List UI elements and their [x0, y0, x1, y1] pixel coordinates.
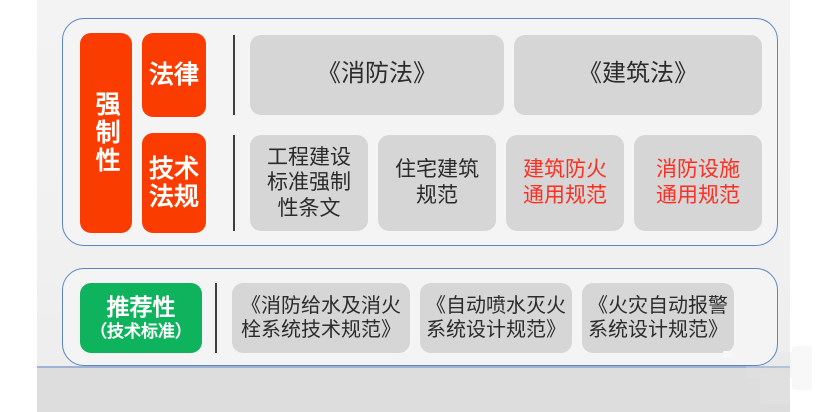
tile-residential-building-code[interactable]: 住宅建筑 规范	[378, 135, 496, 231]
recommended-category-sublabel: （技术标准）	[90, 322, 192, 341]
tile-residential-building-code-line2: 规范	[416, 183, 458, 207]
tile-building-fire-prevention-code-label: 建筑防火 通用规范	[523, 157, 607, 208]
tile-fire-facility-general-code-line1: 消防设施	[656, 157, 740, 181]
mandatory-card: 强制性 法律 技术 法规 《消防法》 《建筑法》 工程建设 标准强制 性条文	[62, 18, 778, 246]
tile-building-fire-prevention-code-line1: 建筑防火	[523, 157, 607, 181]
tile-sprinkler-system-code-label: 《自动喷水灭火 系统设计规范》	[426, 294, 566, 343]
mandatory-category-chip[interactable]: 强制性	[80, 33, 132, 233]
slide-canvas: 强制性 法律 技术 法规 《消防法》 《建筑法》 工程建设 标准强制 性条文	[0, 0, 828, 412]
tile-water-supply-hydrant-code[interactable]: 《消防给水及消火 栓系统技术规范》	[232, 283, 410, 353]
tile-sprinkler-system-code[interactable]: 《自动喷水灭火 系统设计规范》	[420, 283, 572, 353]
recommended-row-separator	[215, 283, 217, 353]
tile-fire-alarm-system-code-label: 《火灾自动报警 系统设计规范》	[588, 294, 728, 343]
technical-regulation-row-separator	[233, 135, 235, 231]
tile-fire-facility-general-code-line2: 通用规范	[656, 183, 740, 207]
tile-sprinkler-system-code-line1: 《自动喷水灭火	[426, 295, 566, 317]
tile-sprinkler-system-code-line2: 系统设计规范》	[426, 319, 566, 341]
footer-strip	[37, 368, 790, 412]
tile-water-supply-hydrant-code-line2: 栓系统技术规范》	[241, 319, 401, 341]
render-artifact-speck	[723, 351, 732, 358]
tile-construction-law[interactable]: 《建筑法》	[514, 35, 762, 115]
technical-regulation-row-chip[interactable]: 技术 法规	[142, 133, 206, 233]
mandatory-category-label: 强制性	[93, 91, 119, 175]
recommended-card: 推荐性 （技术标准） 《消防给水及消火 栓系统技术规范》 《自动喷水灭火 系统设…	[62, 268, 778, 366]
tile-fire-alarm-system-code[interactable]: 《火灾自动报警 系统设计规范》	[582, 283, 734, 353]
watermark-shape-c	[792, 346, 812, 390]
tile-fire-facility-general-code-label: 消防设施 通用规范	[656, 157, 740, 208]
tile-fire-alarm-system-code-line2: 系统设计规范》	[588, 319, 728, 341]
technical-regulation-row-label-line2: 法规	[149, 183, 199, 211]
law-row-label: 法律	[149, 61, 199, 89]
tile-mandatory-provisions-label: 工程建设 标准强制 性条文	[267, 145, 351, 222]
tile-construction-law-label: 《建筑法》	[578, 60, 698, 89]
recommended-category-chip[interactable]: 推荐性 （技术标准）	[80, 283, 202, 353]
tile-fire-facility-general-code[interactable]: 消防设施 通用规范	[634, 135, 762, 231]
tile-fire-alarm-system-code-line1: 《火灾自动报警	[588, 295, 728, 317]
tile-water-supply-hydrant-code-line1: 《消防给水及消火	[241, 295, 401, 317]
tile-fire-protection-law[interactable]: 《消防法》	[250, 35, 504, 115]
tile-mandatory-provisions-line1: 工程建设	[267, 145, 351, 169]
tile-building-fire-prevention-code-line2: 通用规范	[523, 183, 607, 207]
tile-residential-building-code-line1: 住宅建筑	[395, 157, 479, 181]
recommended-category-label: 推荐性	[107, 295, 176, 321]
tile-fire-protection-law-label: 《消防法》	[317, 60, 437, 89]
technical-regulation-row-label: 技术 法规	[149, 155, 199, 211]
technical-regulation-row-label-line1: 技术	[149, 155, 199, 183]
tile-residential-building-code-label: 住宅建筑 规范	[395, 157, 479, 208]
law-row-separator	[233, 35, 235, 115]
tile-building-fire-prevention-code[interactable]: 建筑防火 通用规范	[506, 135, 624, 231]
tile-water-supply-hydrant-code-label: 《消防给水及消火 栓系统技术规范》	[241, 294, 401, 343]
tile-mandatory-provisions[interactable]: 工程建设 标准强制 性条文	[250, 135, 368, 231]
tile-mandatory-provisions-line3: 性条文	[278, 196, 341, 220]
tile-mandatory-provisions-line2: 标准强制	[267, 170, 351, 194]
law-row-chip[interactable]: 法律	[142, 33, 206, 117]
